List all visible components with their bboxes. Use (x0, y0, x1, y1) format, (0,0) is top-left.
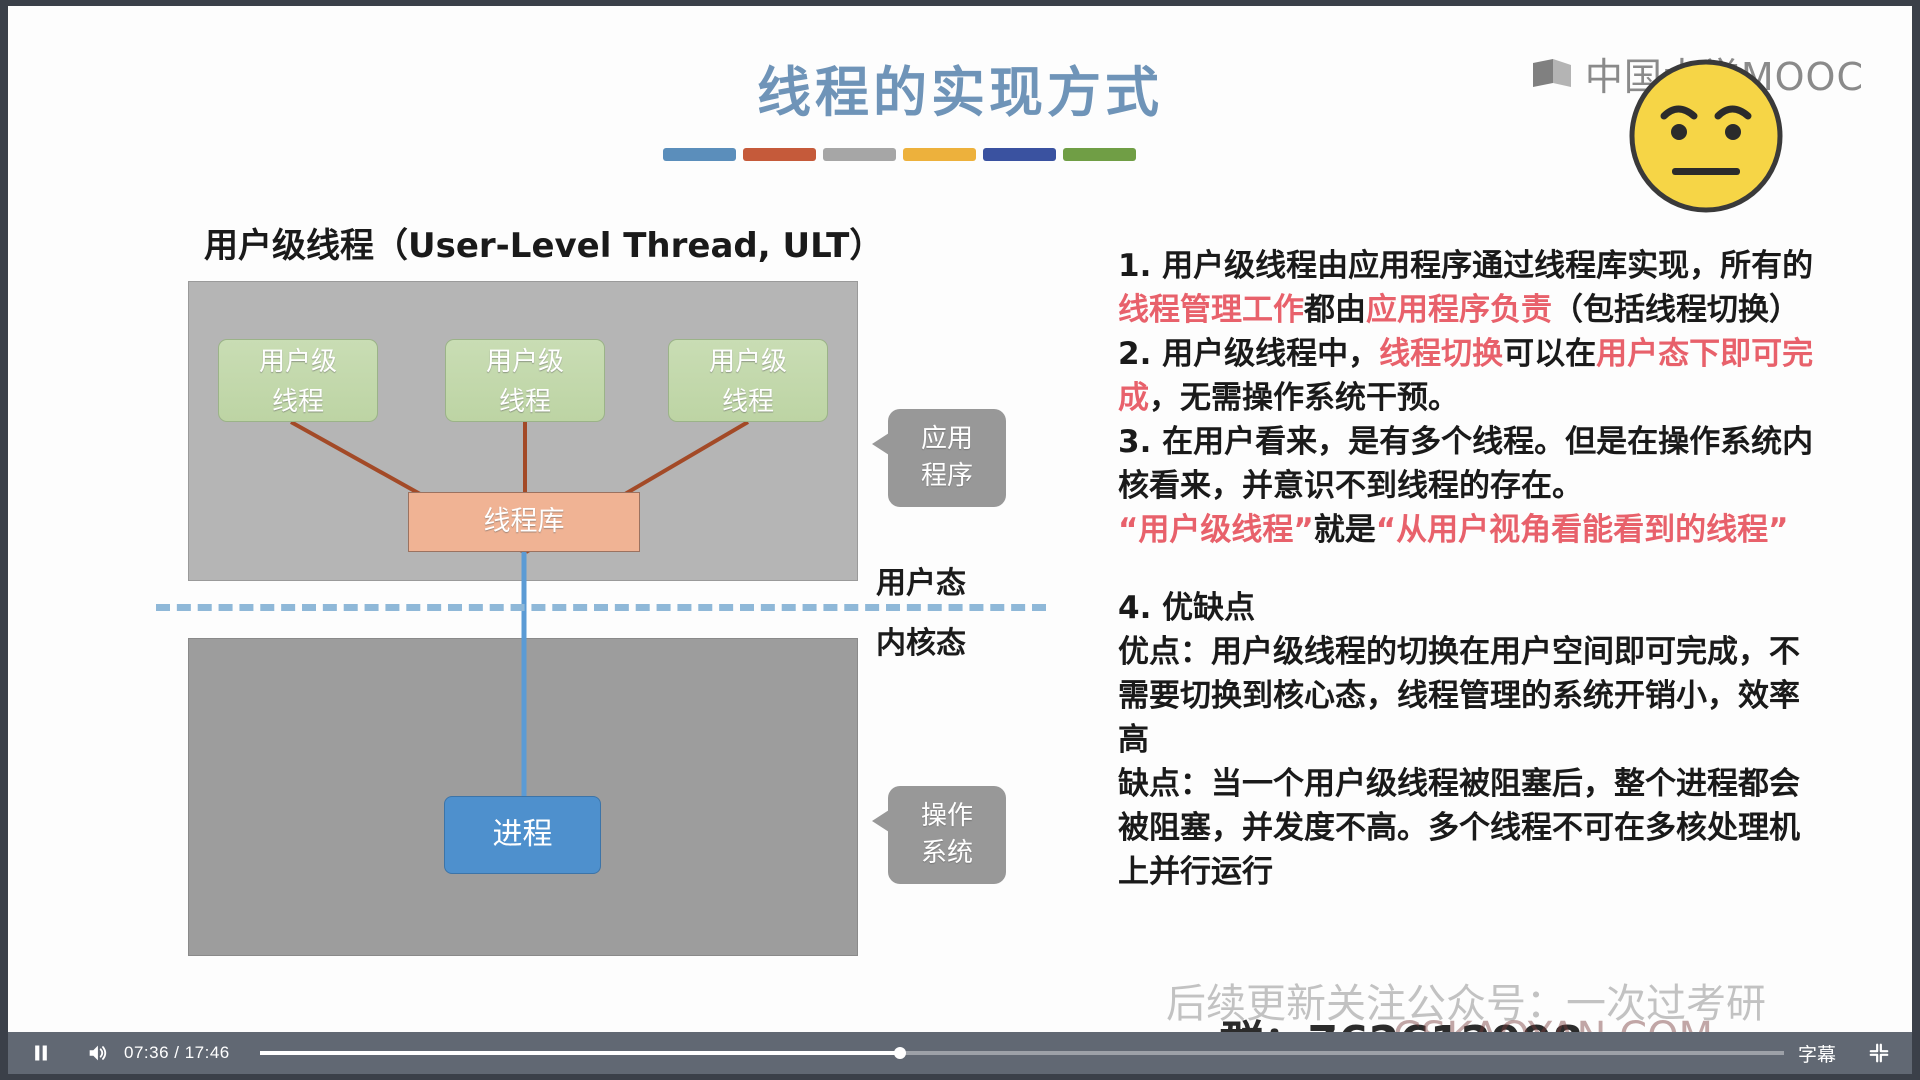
video-player: 线程的实现方式 中国大学MOOC (0, 0, 1920, 1080)
volume-on-icon[interactable] (78, 1034, 116, 1072)
player-control-bar: 07:36 / 17:46 字幕 (8, 1032, 1912, 1074)
time-display: 07:36 / 17:46 (124, 1043, 230, 1063)
progress-bar[interactable] (260, 1051, 1784, 1055)
notes-panel: 1. 用户级线程由应用程序通过线程库实现，所有的线程管理工作都由应用程序负责（包… (1118, 244, 1818, 894)
mooc-book-icon (1531, 57, 1575, 91)
notes-spacer (1118, 552, 1818, 586)
note-highlight: 应用程序负责 (1366, 292, 1552, 328)
operating-system-callout: 操作系统 (888, 786, 1006, 884)
thread-library-box: 线程库 (408, 492, 640, 552)
user-level-thread-box: 用户级线程 (445, 339, 605, 422)
note-highlight: “从用户视角看能看到的线程” (1376, 512, 1789, 548)
note-text: 都由 (1304, 292, 1366, 328)
progress-filled (260, 1051, 900, 1055)
note-text: 1. 用户级线程由应用程序通过线程库实现，所有的 (1118, 248, 1813, 284)
kernel-mode-label: 内核态 (876, 618, 966, 662)
subtitle-button[interactable]: 字幕 (1798, 1040, 1836, 1067)
note-paragraph: 优点：用户级线程的切换在用户空间即可完成，不需要切换到核心态，线程管理的系统开销… (1118, 630, 1818, 762)
process-box: 进程 (444, 796, 601, 874)
diagram-heading: 用户级线程（User-Level Thread, ULT） (204, 218, 883, 267)
note-text: 缺点：当一个用户级线程被阻塞后，整个进程都会被阻塞，并发度不高。多个线程不可在多… (1118, 766, 1800, 890)
user-kernel-boundary-line (156, 604, 1046, 611)
note-text: 优点：用户级线程的切换在用户空间即可完成，不需要切换到核心态，线程管理的系统开销… (1118, 634, 1800, 758)
note-highlight: “用户级线程” (1118, 512, 1314, 548)
accent-bar-5 (983, 148, 1056, 161)
note-paragraph: “用户级线程”就是“从用户视角看能看到的线程” (1118, 508, 1818, 552)
note-text: （包括线程切换） (1552, 292, 1800, 328)
user-level-thread-box: 用户级线程 (668, 339, 828, 422)
note-paragraph: 2. 用户级线程中，线程切换可以在用户态下即可完成，无需操作系统干预。 (1118, 332, 1818, 420)
note-text: ，无需操作系统干预。 (1149, 380, 1459, 416)
application-callout: 应用程序 (888, 409, 1006, 507)
watermark-site: CSKAOYAN.COM (1393, 1014, 1713, 1032)
slide-canvas: 线程的实现方式 中国大学MOOC (8, 6, 1912, 1032)
confused-face-emoji (1628, 58, 1784, 214)
user-level-thread-box: 用户级线程 (218, 339, 378, 422)
accent-bar-3 (823, 148, 896, 161)
note-paragraph: 4. 优缺点 (1118, 586, 1818, 630)
note-text: 2. 用户级线程中， (1118, 336, 1379, 372)
title-accent-bars (663, 148, 1136, 161)
note-highlight: 线程切换 (1379, 336, 1503, 372)
note-text: 3. 在用户看来，是有多个线程。但是在操作系统内核看来，并意识不到线程的存在。 (1118, 424, 1813, 504)
note-text: 可以在 (1503, 336, 1596, 372)
progress-knob[interactable] (894, 1047, 906, 1059)
pause-icon[interactable] (22, 1034, 60, 1072)
note-paragraph: 缺点：当一个用户级线程被阻塞后，整个进程都会被阻塞，并发度不高。多个线程不可在多… (1118, 762, 1818, 894)
note-highlight: 线程管理工作 (1118, 292, 1304, 328)
accent-bar-1 (663, 148, 736, 161)
note-text: 4. 优缺点 (1118, 590, 1255, 626)
note-paragraph: 3. 在用户看来，是有多个线程。但是在操作系统内核看来，并意识不到线程的存在。 (1118, 420, 1818, 508)
accent-bar-2 (743, 148, 816, 161)
user-mode-label: 用户态 (876, 558, 966, 602)
accent-bar-6 (1063, 148, 1136, 161)
exit-fullscreen-icon[interactable] (1860, 1034, 1898, 1072)
note-paragraph: 1. 用户级线程由应用程序通过线程库实现，所有的线程管理工作都由应用程序负责（包… (1118, 244, 1818, 332)
accent-bar-4 (903, 148, 976, 161)
note-text: 就是 (1314, 512, 1376, 548)
